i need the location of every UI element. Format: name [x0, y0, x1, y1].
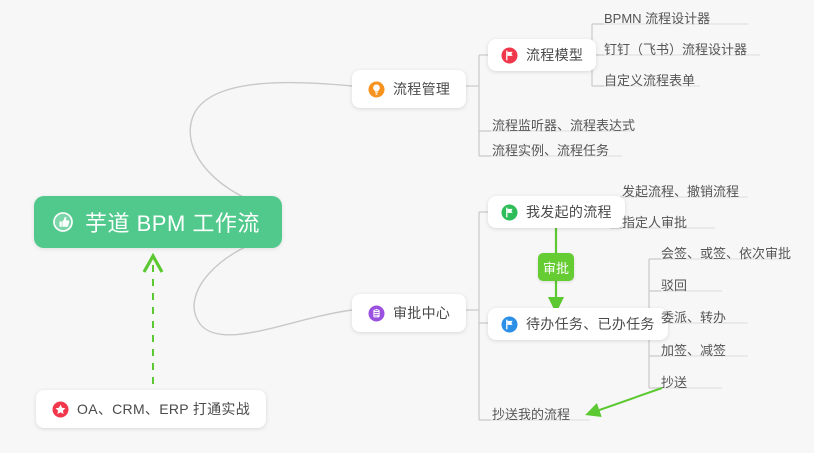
leaf-assignee-approval[interactable]: 指定人审批: [622, 215, 687, 235]
branch-process-management[interactable]: 流程管理: [352, 70, 466, 108]
node-label: 我发起的流程: [526, 202, 612, 222]
callout-label: OA、CRM、ERP 打通实战: [77, 399, 250, 419]
leaf-custom-form[interactable]: 自定义流程表单: [604, 73, 695, 93]
branch-label: 审批中心: [393, 303, 450, 323]
leaf-cc-to-me-process[interactable]: 抄送我的流程: [492, 407, 570, 427]
branch-label: 流程管理: [393, 79, 450, 99]
leaf-dingtalk-designer[interactable]: 钉钉（飞书）流程设计器: [604, 42, 747, 62]
star-icon: [52, 401, 69, 418]
connector-root-to-process-management: [190, 83, 352, 210]
leaf-instance-task[interactable]: 流程实例、流程任务: [492, 143, 609, 163]
leaf-cc[interactable]: 抄送: [661, 375, 687, 395]
clipboard-icon: [368, 305, 385, 322]
leaf-bpmn-designer[interactable]: BPMN 流程设计器: [604, 11, 710, 31]
leaf-add-remove-sign[interactable]: 加签、减签: [661, 343, 726, 363]
mindmap-canvas: 芋道 BPM 工作流 OA、CRM、ERP 打通实战 流程管理: [0, 0, 814, 453]
arrow-cc-to-cc-my-process: [588, 388, 662, 414]
node-process-model[interactable]: 流程模型: [488, 39, 596, 71]
lightbulb-icon: [368, 81, 385, 98]
node-label: 待办任务、已办任务: [526, 314, 655, 334]
node-my-started-process[interactable]: 我发起的流程: [488, 196, 625, 228]
leaf-countersign[interactable]: 会签、或签、依次审批: [661, 246, 791, 266]
callout-integration[interactable]: OA、CRM、ERP 打通实战: [36, 390, 266, 428]
node-label: 流程模型: [526, 45, 583, 65]
root-node[interactable]: 芋道 BPM 工作流: [34, 196, 282, 248]
thumbs-up-icon: [52, 211, 74, 233]
connector-root-to-approval-center: [194, 234, 352, 335]
root-label: 芋道 BPM 工作流: [85, 206, 260, 238]
leaf-reject[interactable]: 驳回: [661, 278, 687, 298]
leaf-delegate-transfer[interactable]: 委派、转办: [661, 310, 726, 330]
branch-approval-center[interactable]: 审批中心: [352, 294, 466, 332]
flag-red-icon: [501, 47, 518, 64]
flag-green-icon: [501, 204, 518, 221]
approve-badge: 审批: [538, 253, 574, 281]
approve-badge-label: 审批: [543, 258, 569, 277]
leaf-start-cancel-process[interactable]: 发起流程、撤销流程: [622, 184, 739, 204]
node-todo-done-tasks[interactable]: 待办任务、已办任务: [488, 308, 668, 340]
flag-blue-icon: [501, 316, 518, 333]
leaf-listener-expression[interactable]: 流程监听器、流程表达式: [492, 118, 635, 138]
